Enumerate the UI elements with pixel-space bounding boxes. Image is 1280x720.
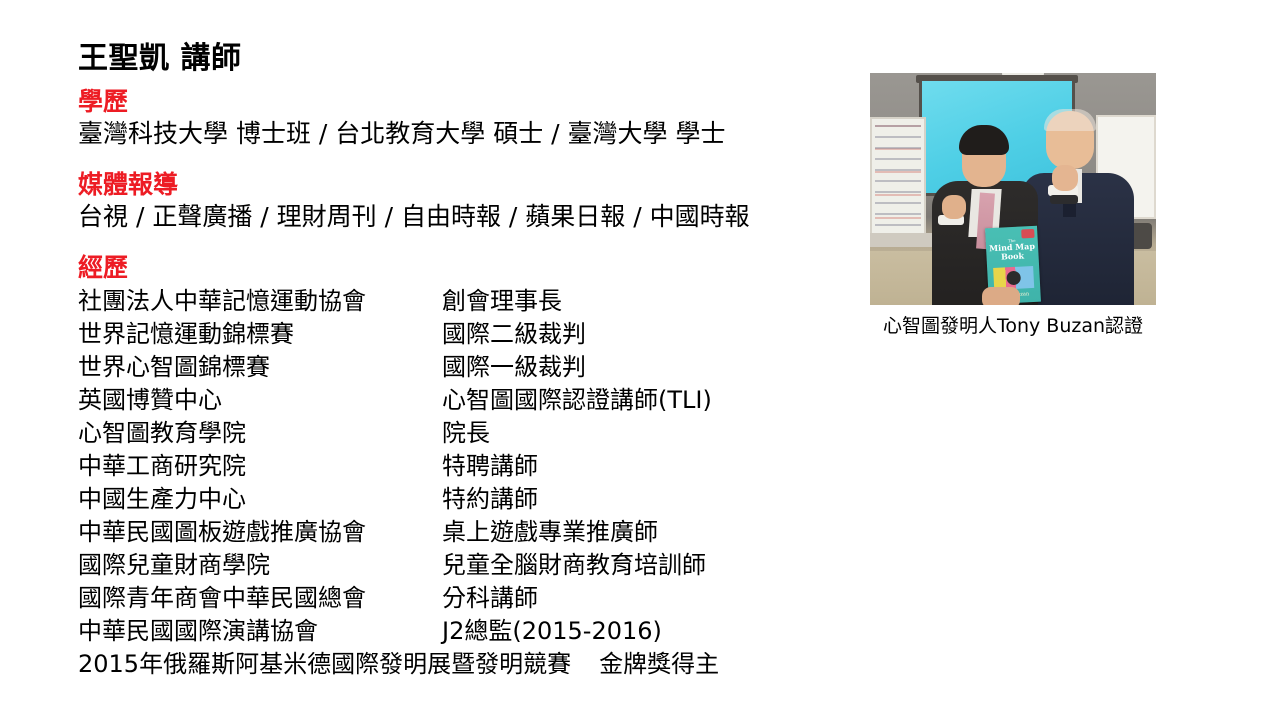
section-education: 學歷 臺灣科技大學 博士班 / 台北教育大學 碩士 / 臺灣大學 學士 — [78, 86, 868, 151]
experience-organization: 中國生產力中心 — [78, 483, 442, 516]
experience-role: 心智圖國際認證講師(TLI) — [442, 384, 712, 417]
experience-list: 社團法人中華記憶運動協會創會理事長世界記憶運動錦標賽國際二級裁判世界心智圖錦標賽… — [78, 285, 868, 681]
experience-organization: 2015年俄羅斯阿基米德國際發明展暨發明競賽 — [78, 648, 599, 681]
section-heading-experience: 經歷 — [78, 252, 868, 283]
experience-row: 中國生產力中心特約講師 — [78, 483, 868, 516]
experience-role: 特聘講師 — [442, 450, 538, 483]
experience-organization: 中華民國圖板遊戲推廣協會 — [78, 516, 442, 549]
photo-flipchart-left — [870, 117, 926, 237]
experience-organization: 國際兒童財商學院 — [78, 549, 442, 582]
photo-person-left-hand — [942, 195, 966, 219]
experience-row: 心智圖教育學院院長 — [78, 417, 868, 450]
experience-organization: 中華工商研究院 — [78, 450, 442, 483]
experience-organization: 世界心智圖錦標賽 — [78, 351, 442, 384]
section-heading-media: 媒體報導 — [78, 169, 868, 200]
photo-hand-holding-book — [982, 287, 1020, 305]
experience-role: 金牌獎得主 — [599, 648, 719, 681]
section-experience: 經歷 社團法人中華記憶運動協會創會理事長世界記憶運動錦標賽國際二級裁判世界心智圖… — [78, 252, 868, 681]
experience-organization: 社團法人中華記憶運動協會 — [78, 285, 442, 318]
experience-row: 中華民國圖板遊戲推廣協會桌上遊戲專業推廣師 — [78, 516, 868, 549]
experience-row: 中華民國國際演講協會J2總監(2015-2016) — [78, 615, 868, 648]
experience-role: 創會理事長 — [442, 285, 562, 318]
experience-role: 國際二級裁判 — [442, 318, 586, 351]
experience-role: 特約講師 — [442, 483, 538, 516]
experience-role: 兒童全腦財商教育培訓師 — [442, 549, 706, 582]
experience-organization: 國際青年商會中華民國總會 — [78, 582, 442, 615]
experience-role: 桌上遊戲專業推廣師 — [442, 516, 658, 549]
experience-row: 英國博贊中心心智圖國際認證講師(TLI) — [78, 384, 868, 417]
experience-organization: 世界記憶運動錦標賽 — [78, 318, 442, 351]
experience-role: 國際一級裁判 — [442, 351, 586, 384]
slide-canvas: 王聖凱 講師 學歷 臺灣科技大學 博士班 / 台北教育大學 碩士 / 臺灣大學 … — [0, 0, 1280, 720]
experience-role: 分科講師 — [442, 582, 538, 615]
photo-person-right-hair — [1044, 109, 1096, 131]
experience-role: 院長 — [442, 417, 490, 450]
experience-role: J2總監(2015-2016) — [442, 615, 662, 648]
experience-organization: 英國博贊中心 — [78, 384, 442, 417]
section-media: 媒體報導 台視 / 正聲廣播 / 理財周刊 / 自由時報 / 蘋果日報 / 中國… — [78, 169, 868, 234]
experience-row: 社團法人中華記憶運動協會創會理事長 — [78, 285, 868, 318]
experience-row: 世界心智圖錦標賽國際一級裁判 — [78, 351, 868, 384]
photo-caption: 心智圖發明人Tony Buzan認證 — [870, 313, 1156, 339]
photo-desk — [870, 233, 934, 247]
section-heading-education: 學歷 — [78, 86, 868, 117]
section-body-media: 台視 / 正聲廣播 / 理財周刊 / 自由時報 / 蘋果日報 / 中國時報 — [78, 200, 868, 234]
experience-row: 2015年俄羅斯阿基米德國際發明展暨發明競賽金牌獎得主 — [78, 648, 868, 681]
photo-tony-buzan-certification: The Mind Map Book Tony Buzan — [870, 73, 1156, 305]
experience-row: 國際兒童財商學院兒童全腦財商教育培訓師 — [78, 549, 868, 582]
photo-person-right-hand — [1052, 165, 1078, 191]
experience-row: 世界記憶運動錦標賽國際二級裁判 — [78, 318, 868, 351]
content-column: 王聖凱 講師 學歷 臺灣科技大學 博士班 / 台北教育大學 碩士 / 臺灣大學 … — [78, 40, 868, 681]
experience-organization: 心智圖教育學院 — [78, 417, 442, 450]
experience-row: 中華工商研究院特聘講師 — [78, 450, 868, 483]
experience-organization: 中華民國國際演講協會 — [78, 615, 442, 648]
experience-row: 國際青年商會中華民國總會分科講師 — [78, 582, 868, 615]
photo-book-title-main: Mind Map Book — [986, 242, 1039, 263]
section-body-education: 臺灣科技大學 博士班 / 台北教育大學 碩士 / 臺灣大學 學士 — [78, 117, 868, 151]
photo-person-right-watch — [1050, 195, 1078, 204]
photo-block: The Mind Map Book Tony Buzan 心智圖發明人Tony … — [870, 73, 1156, 339]
page-title: 王聖凱 講師 — [78, 40, 868, 78]
